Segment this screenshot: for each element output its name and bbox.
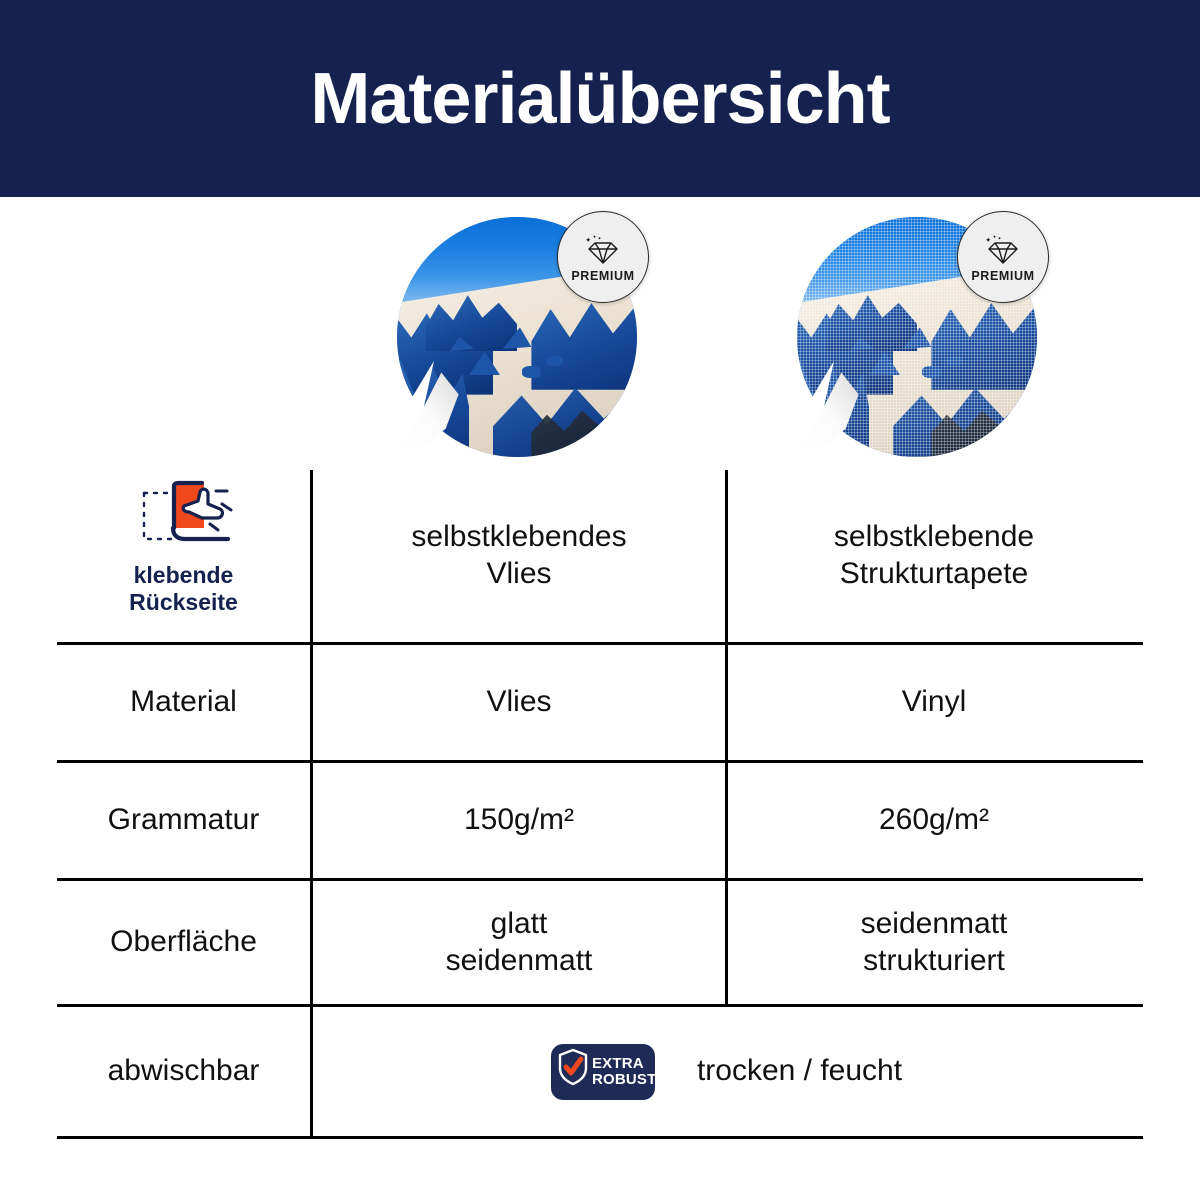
adhesive-label-line1: klebende	[134, 562, 234, 588]
table-row: abwischbar EXTRA ROBUST trocken / feuc	[57, 1007, 1143, 1139]
oberflaeche-a-line1: glatt	[491, 907, 548, 940]
material-comparison-table: klebende Rückseite selbstklebendes Vlies…	[57, 470, 1143, 1139]
row-label-material: Material	[57, 645, 310, 760]
diamond-icon	[582, 232, 624, 266]
product-a-header-line2: Vlies	[486, 557, 551, 590]
oberflaeche-a-line2: seidenmatt	[446, 944, 593, 977]
premium-badge-label: PREMIUM	[971, 269, 1034, 283]
extra-robust-label: EXTRA ROBUST	[592, 1056, 657, 1087]
product-b-header-line1: selbstklebende	[834, 520, 1034, 553]
product-a-header: selbstklebendes Vlies	[310, 470, 725, 642]
premium-badge-label: PREMIUM	[571, 269, 634, 283]
product-preview-row: PREMIUM	[0, 197, 1200, 477]
extra-robust-badge: EXTRA ROBUST	[551, 1044, 655, 1100]
oberflaeche-b-line2: strukturiert	[863, 944, 1005, 977]
row-value-oberflaeche-a: glatt seidenmatt	[310, 881, 725, 1004]
page-header: Materialübersicht	[0, 0, 1200, 197]
diamond-icon	[982, 232, 1024, 266]
row-value-grammatur-a: 150g/m²	[310, 763, 725, 878]
table-row: Oberfläche glatt seidenmatt seidenmatt s…	[57, 881, 1143, 1007]
product-preview-vlies[interactable]: PREMIUM	[397, 217, 637, 457]
row-value-oberflaeche-b: seidenmatt strukturiert	[725, 881, 1140, 1004]
adhesive-label-line2: Rückseite	[129, 589, 238, 615]
row-value-grammatur-b: 260g/m²	[725, 763, 1140, 878]
peeling-sticker-hand-icon	[132, 476, 236, 558]
product-b-header-line2: Strukturtapete	[840, 557, 1028, 590]
shield-check-icon	[556, 1047, 590, 1097]
table-row: klebende Rückseite selbstklebendes Vlies…	[57, 470, 1143, 645]
premium-badge: PREMIUM	[957, 211, 1049, 303]
product-a-header-line1: selbstklebendes	[411, 520, 626, 553]
table-row: Material Vlies Vinyl	[57, 645, 1143, 763]
abwischbar-value: trocken / feucht	[697, 1053, 902, 1090]
product-preview-strukturtapete[interactable]: PREMIUM	[797, 217, 1037, 457]
row-value-material-a: Vlies	[310, 645, 725, 760]
adhesive-backing-cell: klebende Rückseite	[57, 470, 310, 642]
table-row: Grammatur 150g/m² 260g/m²	[57, 763, 1143, 881]
premium-badge: PREMIUM	[557, 211, 649, 303]
row-value-abwischbar: EXTRA ROBUST trocken / feucht	[310, 1007, 1140, 1136]
oberflaeche-b-line1: seidenmatt	[861, 907, 1008, 940]
rock-shard	[522, 366, 541, 378]
product-b-header: selbstklebende Strukturtapete	[725, 470, 1140, 642]
adhesive-backing-label: klebende Rückseite	[129, 562, 238, 617]
rock-shard	[546, 356, 563, 366]
row-label-oberflaeche: Oberfläche	[57, 881, 310, 1004]
page-title: Materialübersicht	[310, 63, 889, 135]
row-label-abwischbar: abwischbar	[57, 1007, 310, 1136]
extra-robust-line2: ROBUST	[592, 1071, 657, 1088]
row-label-grammatur: Grammatur	[57, 763, 310, 878]
row-value-material-b: Vinyl	[725, 645, 1140, 760]
